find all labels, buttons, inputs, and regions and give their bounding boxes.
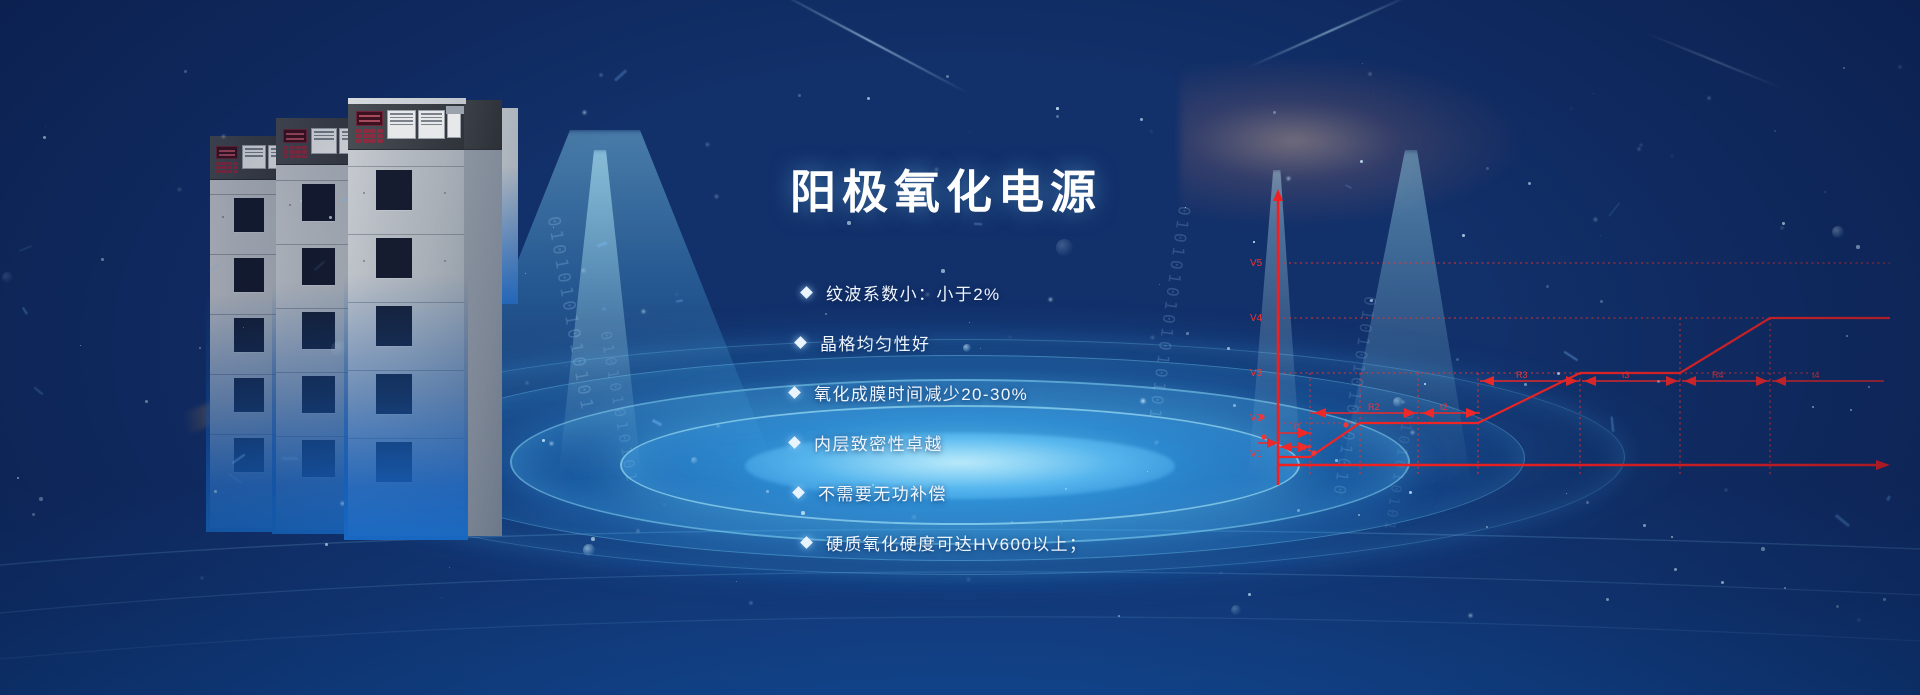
light-particle <box>1486 526 1488 528</box>
light-particle <box>1850 409 1852 411</box>
cabinet-front <box>348 100 464 536</box>
bokeh-particle <box>2 272 13 283</box>
light-particle <box>1674 568 1677 571</box>
chart-seg-r2: R2 <box>1368 402 1380 412</box>
light-particle <box>1671 536 1673 538</box>
light-particle <box>600 74 602 76</box>
bokeh-particle <box>1393 397 1403 407</box>
light-particle <box>1411 431 1414 434</box>
light-particle <box>798 94 801 97</box>
light-particle <box>1868 386 1870 388</box>
light-particle <box>637 530 639 532</box>
light-particle <box>946 75 949 78</box>
light-particle <box>1155 441 1158 444</box>
light-particle <box>583 111 586 114</box>
list-item-label: 不需要无功补偿 <box>818 480 947 505</box>
light-particle <box>1761 547 1765 551</box>
light-particle <box>912 515 916 519</box>
light-particle <box>1671 155 1673 157</box>
chart-seg-t2: t2 <box>1440 402 1448 412</box>
diamond-bullet-icon <box>800 286 813 299</box>
light-particle <box>1846 335 1848 337</box>
light-particle <box>1009 336 1011 338</box>
light-particle <box>1056 115 1059 118</box>
light-particle <box>1369 73 1371 75</box>
light-particle <box>969 132 970 133</box>
list-item-label: 内层致密性卓越 <box>814 430 943 455</box>
list-item: 氧化成膜时间减少20-30% <box>790 367 1350 417</box>
list-item: 不需要无功补偿 <box>790 467 1350 517</box>
light-particle <box>1056 107 1059 110</box>
light-particle <box>801 511 805 515</box>
page-title: 阳极氧化电源 <box>790 165 1350 219</box>
cabinet-edge-trim <box>446 106 464 114</box>
list-item-label: 晶格均匀性好 <box>820 330 930 355</box>
light-particle <box>1843 67 1845 69</box>
light-particle <box>1424 383 1426 385</box>
light-particle <box>178 188 181 191</box>
light-particle <box>867 97 870 100</box>
list-item: 晶格均匀性好 <box>790 317 1350 367</box>
light-particle <box>43 136 46 139</box>
light-particle <box>1151 131 1152 132</box>
light-particle <box>145 400 148 403</box>
light-particle <box>1287 177 1290 180</box>
light-particle <box>201 577 203 579</box>
cabinet-top-slab <box>348 98 466 104</box>
light-particle <box>1774 130 1776 132</box>
light-particle <box>941 269 945 273</box>
light-particle <box>582 269 585 272</box>
light-particle <box>706 143 709 146</box>
light-particle <box>80 345 81 346</box>
light-particle <box>1856 245 1860 249</box>
light-particle <box>1784 587 1786 589</box>
list-item-label: 纹波系数小：小于2% <box>826 280 1001 305</box>
diamond-bullet-icon <box>788 436 801 449</box>
light-particle <box>1781 227 1783 229</box>
light-particle <box>591 537 595 541</box>
shard-particle <box>614 69 627 81</box>
light-particle <box>1546 285 1549 288</box>
streak-decor <box>773 0 968 93</box>
light-particle <box>1273 111 1276 114</box>
light-particle <box>642 310 645 313</box>
light-particle <box>1708 97 1710 99</box>
shard-particle <box>282 457 298 460</box>
shard-particle <box>34 387 44 396</box>
light-particle <box>1469 614 1472 617</box>
light-particle <box>1335 459 1338 462</box>
shard-particle <box>974 223 982 225</box>
light-particle <box>325 543 328 546</box>
light-particle <box>750 602 752 604</box>
diamond-bullet-icon <box>788 386 801 399</box>
light-particle <box>1643 524 1646 527</box>
feature-list: 纹波系数小：小于2% 晶格均匀性好 氧化成膜时间减少20-30% 内层致密性卓越… <box>790 267 1350 567</box>
light-particle <box>1373 93 1374 94</box>
light-particle <box>1147 471 1148 472</box>
bokeh-particle <box>583 544 595 556</box>
chart-seg-r4: R4 <box>1712 370 1724 380</box>
light-particle <box>101 258 104 261</box>
bokeh-particle <box>691 457 698 464</box>
light-particle <box>766 490 769 493</box>
diamond-bullet-icon <box>792 486 805 499</box>
chart-seg-r3: R3 <box>1516 370 1528 380</box>
light-particle <box>222 135 225 138</box>
list-item-label: 氧化成膜时间减少20-30% <box>814 380 1028 405</box>
light-particle <box>1253 241 1255 243</box>
list-item: 硬质氧化硬度可达HV600以上； <box>790 517 1350 567</box>
chart-seg-t4: t4 <box>1812 370 1820 380</box>
light-particle <box>1836 605 1839 608</box>
chart-seg-t3: t3 <box>1622 370 1630 380</box>
list-item: 纹波系数小：小于2% <box>790 267 1350 317</box>
light-particle <box>1593 93 1594 94</box>
diamond-bullet-icon <box>794 336 807 349</box>
light-particle <box>1358 514 1360 516</box>
light-particle <box>926 293 929 296</box>
light-particle <box>1118 615 1120 617</box>
list-item: 内层致密性卓越 <box>790 417 1350 467</box>
light-particle <box>1141 399 1145 403</box>
light-particle <box>1899 66 1901 68</box>
light-particle <box>1462 234 1465 237</box>
light-particle <box>550 442 553 445</box>
light-particle <box>1640 144 1642 146</box>
light-particle <box>847 221 851 225</box>
light-particle <box>715 195 718 198</box>
light-particle <box>1571 108 1572 109</box>
shard-particle <box>19 246 32 252</box>
light-particle <box>39 497 43 501</box>
light-particle <box>1486 167 1489 170</box>
light-particle <box>1360 160 1363 163</box>
light-particle <box>1011 521 1013 523</box>
light-particle <box>300 200 302 202</box>
light-particle <box>1528 182 1531 185</box>
diamond-bullet-icon <box>800 536 813 549</box>
cabinet-side-panel <box>464 100 502 536</box>
anodizing-power-supply-banner: ⚠ 01010101010101 010101010101 0101010101… <box>0 0 1920 695</box>
streak-decor <box>1247 0 1412 68</box>
shard-particle <box>22 307 28 315</box>
bokeh-particle <box>1056 239 1073 256</box>
light-particle <box>1248 593 1251 596</box>
light-particle <box>199 347 201 349</box>
light-particle <box>1186 332 1189 335</box>
light-particle <box>676 294 677 295</box>
light-particle <box>45 126 46 127</box>
light-particle <box>243 327 244 328</box>
light-particle <box>184 70 187 73</box>
light-particle <box>542 439 545 442</box>
light-particle <box>1140 118 1143 121</box>
light-particle <box>1362 63 1363 64</box>
streak-decor <box>1645 32 1785 90</box>
shard-particle <box>676 299 683 302</box>
banner-text-block: 阳极氧化电源 纹波系数小：小于2% 晶格均匀性好 氧化成膜时间减少20-30% … <box>790 165 1350 567</box>
light-particle <box>1638 148 1640 150</box>
light-particle <box>825 313 827 315</box>
